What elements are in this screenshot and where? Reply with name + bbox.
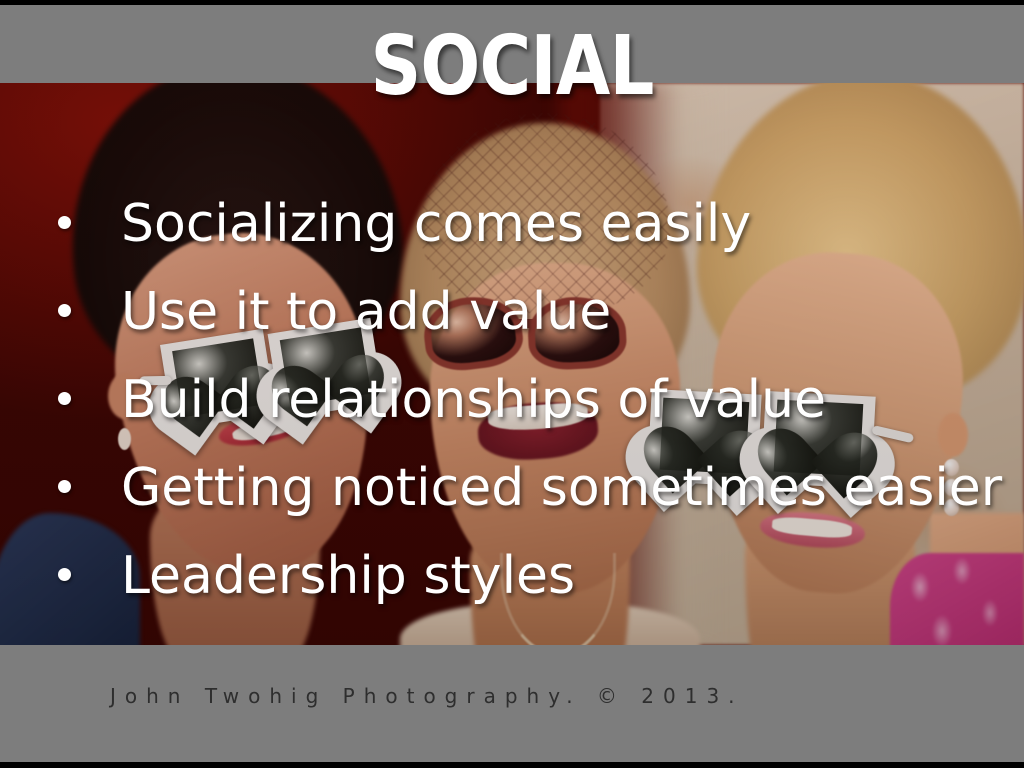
bullet-text: Leadership styles [121,550,575,602]
bullet-dot-icon [58,392,71,405]
bullet-text: Use it to add value [121,286,611,338]
bullet-text: Socializing comes easily [121,198,751,250]
bullet-dot-icon [58,568,71,581]
bullet-dot-icon [58,304,71,317]
bullet-list: Socializing comes easily Use it to add v… [58,198,1008,638]
list-item: Leadership styles [58,550,1008,638]
list-item: Use it to add value [58,286,1008,374]
list-item: Getting noticed sometimes easier [58,462,1008,550]
photographer-credit: John Twohig Photography. © 2013. [110,684,744,708]
list-item: Socializing comes easily [58,198,1008,286]
presentation-slide: SOCIAL Socializing comes easily Use it t… [0,0,1024,768]
bullet-text: Getting noticed sometimes easier [121,462,1002,514]
slide-title: SOCIAL [72,26,953,108]
list-item: Build relationships of value [58,374,1008,462]
bullet-dot-icon [58,480,71,493]
bullet-text: Build relationships of value [121,374,826,426]
bullet-dot-icon [58,216,71,229]
